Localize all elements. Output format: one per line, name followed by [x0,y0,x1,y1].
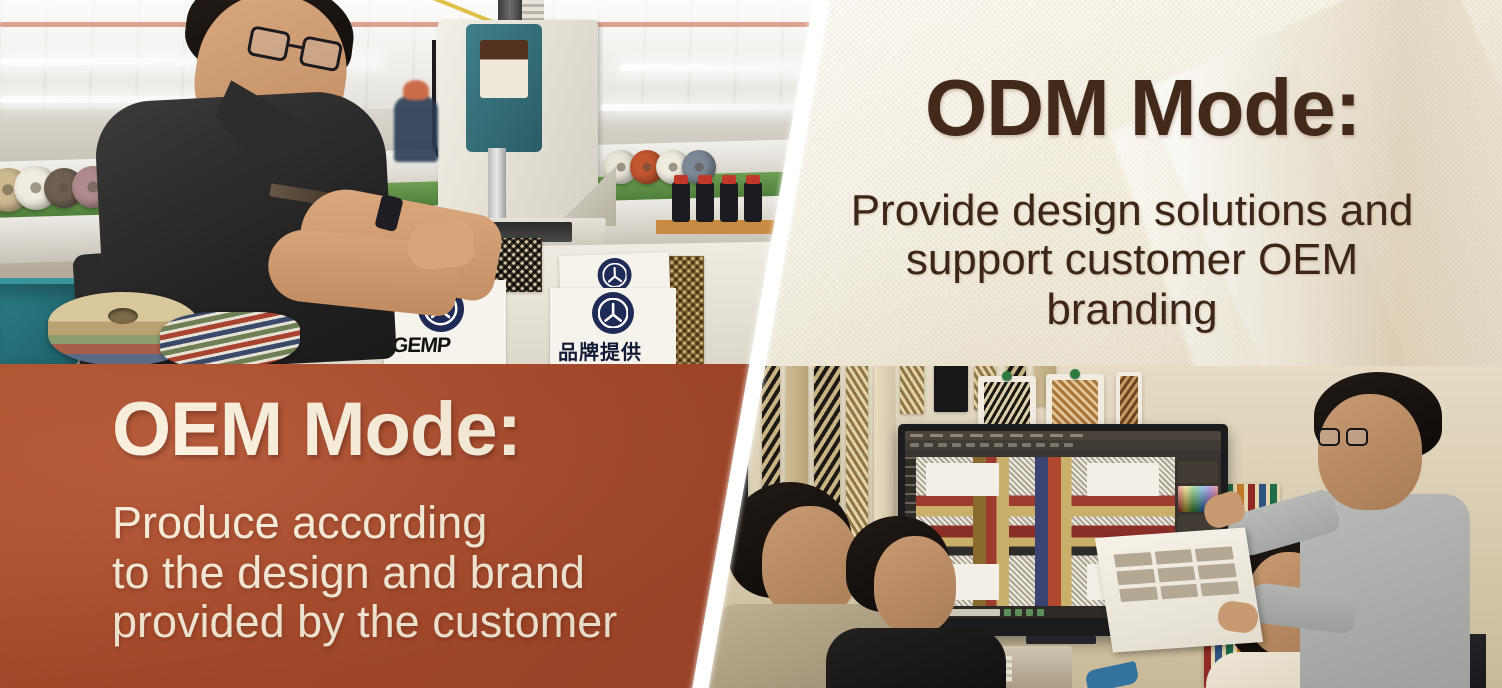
sample-sheet-grid [1114,546,1240,602]
taskbar-app-icon[interactable] [1015,609,1022,616]
brand-sample-label: GEMP [391,334,451,358]
brand-logo-icon [592,292,634,334]
pin-icon [1002,371,1012,381]
ceiling-light [620,64,832,71]
canvas-blank-block [1087,463,1160,496]
oem-subtitle: Produce according to the design and bran… [112,498,617,647]
ceiling-light [600,104,832,111]
taskbar-app-icon[interactable] [1037,609,1044,616]
app-menubar[interactable] [905,431,1221,440]
person-head [874,536,956,634]
person-head [762,506,858,620]
monitor-stand [1026,636,1096,644]
odm-mode-panel: ODM Mode: Provide design solutions and s… [760,0,1502,366]
person-head [1318,394,1422,510]
banner-stage: GEMP 品牌提供 品牌提供 [0,0,1502,688]
odm-subtitle-line: Provide design solutions and [842,186,1422,235]
ceiling-beam [0,22,832,27]
oem-title: OEM Mode: [112,392,521,468]
machine-display [480,40,528,98]
press-ram [488,148,506,224]
factory-photo: GEMP 品牌提供 品牌提供 [0,0,832,364]
odm-subtitle: Provide design solutions and support cus… [842,186,1422,334]
background-worker [394,96,438,162]
ink-bottle-row [672,182,768,224]
odm-subtitle-line: support customer OEM branding [842,235,1422,334]
wall-webbing-strip [900,366,924,414]
sample-sheet [1095,527,1263,652]
brand-sample-label: 品牌提供 [558,336,642,364]
app-toolbar[interactable] [905,440,1221,450]
taskbar-app-icon[interactable] [1026,609,1033,616]
pin-icon [1070,369,1080,379]
app-tabbar[interactable] [905,450,1221,457]
oem-subtitle-line: to the design and brand [112,548,617,598]
brand-sample-card: 品牌提供 [550,288,676,364]
odm-title: ODM Mode: [925,68,1360,148]
oem-mode-panel: OEM Mode: Produce according to the desig… [0,364,760,688]
canvas-blank-block [926,463,999,496]
taskbar-app-icon[interactable] [1004,609,1011,616]
wall-webbing-strip [934,366,968,412]
worker-hand [406,219,476,272]
woven-straps [160,312,300,364]
oem-subtitle-line: Produce according [112,498,617,548]
glasses-icon [1318,428,1372,448]
person-torso [826,628,1006,688]
oem-subtitle-line: provided by the customer [112,597,617,647]
design-studio-photo [706,366,1502,688]
panel-box[interactable] [1178,461,1218,483]
